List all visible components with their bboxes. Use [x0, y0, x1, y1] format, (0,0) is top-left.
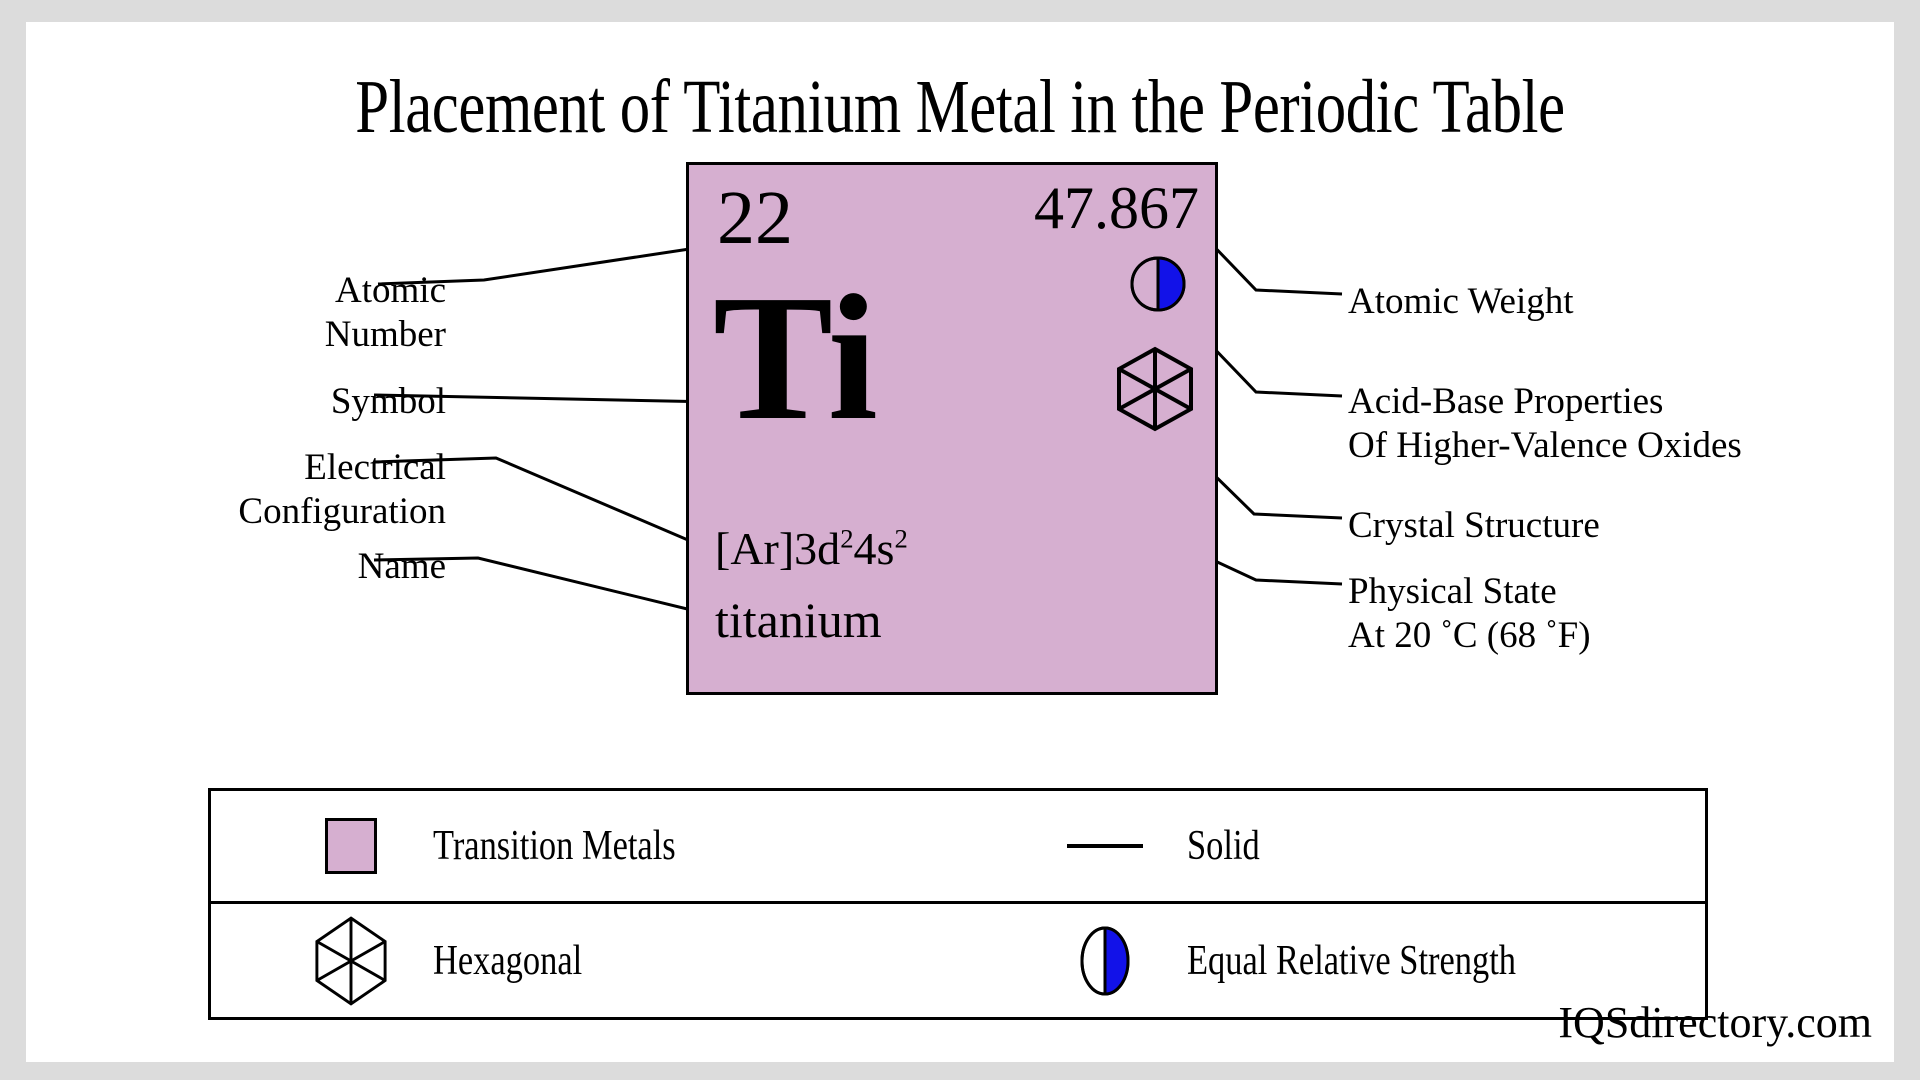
econfig-sup-1: 2 [840, 524, 853, 554]
legend-label: Equal Relative Strength [1187, 938, 1516, 984]
callout-atomic-weight: Atomic Weight [1348, 280, 1868, 324]
page-title: Placement of Titanium Metal in the Perio… [213, 64, 1707, 150]
legend-item-hexagonal: Hexagonal [211, 913, 871, 1009]
callout-acid-base-properties: Acid-Base Properties Of Higher-Valence O… [1348, 380, 1868, 468]
element-symbol-value: Ti [713, 263, 876, 453]
hexagon-icon [313, 913, 389, 1009]
legend-row: Hexagonal Equal Relative Strength [211, 904, 1705, 1017]
element-cell: 22 47.867 Ti [Ar]3d24s2 titanium [686, 162, 1218, 695]
callout-name: Name [146, 545, 446, 589]
callout-atomic-number: Atomic Number [146, 269, 446, 357]
legend-label: Transition Metals [433, 823, 676, 869]
source-attribution: IQSdirectory.com [1558, 998, 1872, 1048]
econfig-base: [Ar]3d [715, 523, 840, 574]
econfig-mid: 4s [854, 523, 895, 574]
callout-electrical-configuration: Electrical Configuration [146, 446, 446, 534]
diagram-card: Placement of Titanium Metal in the Perio… [26, 22, 1894, 1062]
legend-item-solid: Solid [871, 823, 1571, 869]
callout-symbol: Symbol [146, 380, 446, 424]
legend-item-equal-relative-strength: Equal Relative Strength [871, 925, 1571, 997]
legend-item-transition-metals: Transition Metals [211, 818, 871, 874]
legend-label: Hexagonal [433, 938, 582, 984]
econfig-sup-2: 2 [894, 524, 907, 554]
legend: Transition Metals Solid [208, 788, 1708, 1020]
atomic-number-value: 22 [717, 177, 793, 259]
half-filled-circle-icon [1067, 925, 1143, 997]
legend-label: Solid [1187, 823, 1260, 869]
solid-line-icon [1067, 844, 1143, 848]
element-name-value: titanium [715, 591, 882, 649]
page-background: Placement of Titanium Metal in the Perio… [0, 0, 1920, 1080]
callout-crystal-structure: Crystal Structure [1348, 504, 1868, 548]
half-filled-circle-icon [1129, 255, 1187, 313]
hexagon-icon [1109, 343, 1201, 435]
legend-row: Transition Metals Solid [211, 791, 1705, 904]
electron-configuration-value: [Ar]3d24s2 [715, 523, 908, 575]
callout-physical-state: Physical State At 20 ˚C (68 ˚F) [1348, 570, 1868, 658]
atomic-weight-value: 47.867 [1034, 173, 1199, 243]
color-swatch-icon [313, 818, 389, 874]
